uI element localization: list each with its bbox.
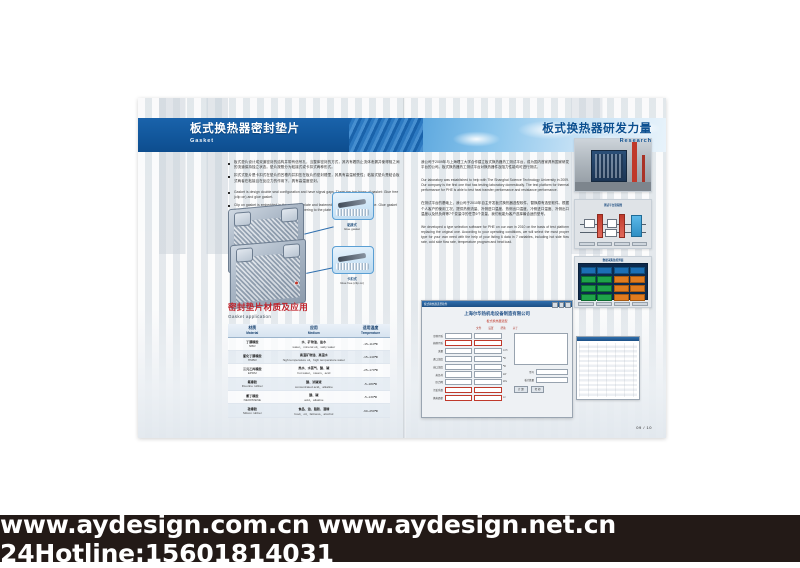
brochure-spread: 板式换热器密封垫片 Gasket 板式换热器研发力量 Research 板式垫片… bbox=[138, 98, 666, 438]
right-page-title: 板式换热器研发力量 Research bbox=[542, 122, 652, 144]
tank-icon bbox=[631, 215, 642, 237]
bullet-en-1: Gasket is design double seal configurati… bbox=[228, 190, 400, 200]
heater-icon bbox=[619, 214, 625, 238]
research-paragraph-cn-2: 在测试平台的基础上，我公司于2010年自主开发板式换热器选型软件，替换原有选型软… bbox=[421, 201, 569, 217]
table-row: 丁腈橡胶NBR水、矿物油、盐水water、mineral oil、salty w… bbox=[228, 337, 390, 350]
field-label: 冷侧介质 bbox=[426, 334, 443, 338]
contact-banner-text: www.aydesign.com.cn www.aydesign.net.cn … bbox=[0, 510, 800, 568]
software-field-row: 流量m³/h bbox=[426, 348, 510, 354]
field-input[interactable] bbox=[445, 387, 473, 393]
hmi-row bbox=[581, 285, 645, 292]
cell-temperature: -15~110℃ bbox=[351, 337, 390, 350]
software-action-buttons: 计 算打 印 bbox=[514, 386, 568, 394]
hmi-cell bbox=[581, 285, 596, 292]
plate-port-icon bbox=[236, 247, 253, 262]
software-field-row: 出口温度℃ bbox=[426, 364, 510, 370]
hmi-screen-photo: 数据采集监控界面 bbox=[574, 256, 652, 308]
bullet-en-1-text: Gasket is design double seal configurati… bbox=[234, 190, 400, 200]
hmi-button[interactable] bbox=[596, 302, 612, 306]
hmi-screen-image: 数据采集监控界面 bbox=[575, 257, 651, 307]
hmi-cell bbox=[614, 267, 629, 274]
software-title-bar: 板式换热器选型软件 bbox=[422, 301, 572, 307]
cell-medium: 酸、碱acid、alkaline bbox=[277, 391, 352, 404]
software-result-row: 板片数量 bbox=[514, 377, 568, 383]
flow-diagram-image: 测试平台流程图 bbox=[575, 200, 651, 248]
callout-leader-line bbox=[304, 226, 333, 234]
callout-glue-gasket: 粘接式 Glue gasket bbox=[332, 192, 372, 231]
field-unit: ℃ bbox=[503, 365, 510, 368]
field-label: 热负荷 bbox=[426, 373, 443, 377]
cell-medium: 水、矿物油、盐水water、mineral oil、salty water bbox=[277, 337, 352, 350]
hmi-cell bbox=[630, 267, 645, 274]
field-unit: ℃ bbox=[503, 357, 510, 360]
software-menu-item[interactable]: 关于 bbox=[513, 326, 518, 330]
cell-material: 氯丁橡胶NEOPRENE bbox=[228, 391, 277, 404]
table-row: 氟橡胶Fluorine rubber酸、浓碱液concentrated acid… bbox=[228, 377, 390, 390]
software-header: 上海尔华热机电设备制造有限公司 板式换热器选型 bbox=[422, 307, 572, 323]
cell-material: 三元乙丙橡胶EPDM bbox=[228, 364, 277, 377]
software-field-row: 热负荷kW bbox=[426, 371, 510, 377]
field-input[interactable] bbox=[445, 371, 473, 377]
hmi-caption: 数据采集监控界面 bbox=[603, 258, 624, 262]
field-unit: m² bbox=[503, 397, 510, 399]
software-result-row: 型号 bbox=[514, 369, 568, 375]
field-input[interactable] bbox=[474, 395, 502, 401]
result-label: 板片数量 bbox=[514, 378, 534, 382]
right-text-column: 我公司于2009年与上海理工大学合作建立板式换热器热工测试平台，成为国内首家具有… bbox=[421, 160, 569, 253]
field-input[interactable] bbox=[474, 387, 502, 393]
cell-temperature: -15~140℃ bbox=[351, 350, 390, 363]
bullet-cn-1: 板式垫片设计成双道密封的结构并带有信号孔，当整体密封的方式，其内有着防止流体泄漏… bbox=[228, 160, 400, 170]
field-input[interactable] bbox=[445, 333, 473, 339]
hmi-cell bbox=[614, 276, 629, 283]
diagram-button[interactable] bbox=[597, 242, 613, 246]
maximize-icon[interactable] bbox=[559, 302, 565, 308]
component-box bbox=[607, 219, 617, 228]
cell-medium: 热水、水蒸气、酸、碱hot water、steam、acid bbox=[277, 364, 352, 377]
result-value bbox=[536, 377, 569, 383]
field-input[interactable] bbox=[474, 333, 502, 339]
table-header: 材质 Material 应用 Medium 适用温度 Temperature bbox=[228, 324, 390, 337]
bullet-cn-2: 扣式式垫片是卡扣式在垫片的凹槽内并扣压在板片的密封槽里，其具有高温耐受性；粘接式… bbox=[228, 173, 400, 183]
flow-diagram-photo: 测试平台流程图 bbox=[574, 199, 652, 249]
hmi-button[interactable] bbox=[632, 302, 648, 306]
software-field-row: 热侧介质 bbox=[426, 340, 510, 346]
software-field-row: 污垢系数 bbox=[426, 387, 510, 393]
hmi-display bbox=[578, 263, 648, 300]
field-label: 换热面积 bbox=[426, 396, 443, 400]
hmi-cell bbox=[614, 294, 629, 301]
diagram-button[interactable] bbox=[632, 242, 648, 246]
cell-temperature: -25~170℃ bbox=[351, 364, 390, 377]
hmi-cell bbox=[630, 294, 645, 301]
plate-port-icon bbox=[281, 207, 298, 222]
field-input[interactable] bbox=[445, 356, 473, 362]
field-label: 出口温度 bbox=[426, 365, 443, 369]
field-label: 热侧介质 bbox=[426, 341, 443, 345]
heater-icon bbox=[597, 214, 603, 238]
callout-clip-on-gasket: 卡扣式 Glue free (clip on) bbox=[332, 246, 372, 285]
plate-port-icon bbox=[234, 211, 251, 226]
software-field-row: 进口温度℃ bbox=[426, 356, 510, 362]
cell-material: 氟橡胶Fluorine rubber bbox=[228, 377, 277, 390]
field-input[interactable] bbox=[445, 379, 473, 385]
right-title-en: Research bbox=[542, 138, 652, 144]
diagram-button[interactable] bbox=[579, 242, 595, 246]
left-page-title: 板式换热器密封垫片 Gasket bbox=[190, 122, 300, 144]
callout-marker-dot bbox=[295, 281, 298, 284]
hmi-button[interactable] bbox=[614, 302, 630, 306]
field-unit: m³/h bbox=[503, 350, 510, 352]
software-menu-item[interactable]: 帮助 bbox=[501, 326, 506, 330]
gasket-photo-thumb bbox=[332, 246, 374, 274]
software-menu-item[interactable]: 文件 bbox=[476, 326, 481, 330]
research-paragraph-en-2: We developed a type selection software f… bbox=[421, 225, 569, 246]
software-field-row: 换热面积m² bbox=[426, 395, 510, 401]
hmi-row bbox=[581, 267, 645, 274]
page-canvas: 板式换热器密封垫片 Gasket 板式换热器研发力量 Research 板式垫片… bbox=[0, 0, 800, 562]
result-fields: 型号板片数量 bbox=[514, 369, 568, 383]
research-paragraph-en-1: Our laboratory was established to help w… bbox=[421, 178, 569, 194]
lab-photo bbox=[574, 138, 652, 192]
field-label: 污垢系数 bbox=[426, 388, 443, 392]
cell-material: 氢化丁腈橡胶HNBR bbox=[228, 350, 277, 363]
result-display-box bbox=[514, 333, 568, 365]
field-label: 压力降 bbox=[426, 380, 443, 384]
minimize-icon[interactable] bbox=[552, 302, 558, 308]
hmi-cell bbox=[630, 276, 645, 283]
component-box bbox=[584, 219, 595, 228]
field-input[interactable] bbox=[474, 356, 502, 362]
selection-software-screenshot: 板式换热器选型软件 上海尔华热机电设备制造有限公司 板式换热器选型 文件设置帮助… bbox=[421, 300, 573, 418]
hmi-cell bbox=[581, 267, 596, 274]
close-icon[interactable] bbox=[565, 302, 571, 308]
hmi-cell bbox=[597, 276, 612, 283]
field-input[interactable] bbox=[474, 340, 502, 346]
section-title-cn: 密封垫片材质及应用 bbox=[228, 301, 408, 313]
cell-medium: 食品、油、脂肪、酒精food、oil、fattness、alcohol bbox=[277, 404, 352, 417]
cell-material: 丁腈橡胶NBR bbox=[228, 337, 277, 350]
hmi-row bbox=[581, 276, 645, 283]
hmi-button-row bbox=[578, 302, 648, 306]
component-box bbox=[605, 229, 617, 237]
gasket-application-heading: 密封垫片材质及应用 Gasket application bbox=[228, 301, 408, 319]
plate-port-icon bbox=[283, 243, 300, 258]
cell-medium: 酸、浓碱液concentrated acid、alkaline bbox=[277, 377, 352, 390]
plate-illustrations: 粘接式 Glue gasket 卡扣式 Glue free (clip on) bbox=[228, 206, 403, 298]
test-rig-icon bbox=[591, 150, 627, 182]
software-result-panel: 型号板片数量 计 算打 印 bbox=[514, 333, 568, 403]
software-action-button[interactable]: 打 印 bbox=[531, 386, 545, 394]
callout-label-en: Glue gasket bbox=[332, 227, 372, 231]
section-title-en: Gasket application bbox=[228, 314, 408, 319]
software-field-row: 冷侧介质 bbox=[426, 333, 510, 339]
field-unit: kW bbox=[503, 374, 510, 376]
bullet-cn-2-text: 扣式式垫片是卡扣式在垫片的凹槽内并扣压在板片的密封槽里，其具有高温耐受性；粘接式… bbox=[234, 173, 400, 183]
page-number: 09 / 10 bbox=[636, 425, 652, 430]
field-label: 流量 bbox=[426, 349, 443, 353]
software-window-title: 板式换热器选型软件 bbox=[424, 302, 447, 306]
diagram-caption: 测试平台流程图 bbox=[604, 203, 622, 207]
left-title-en: Gasket bbox=[190, 138, 300, 144]
table-row: 三元乙丙橡胶EPDM热水、水蒸气、酸、碱hot water、steam、acid… bbox=[228, 364, 390, 377]
lab-photo-image bbox=[575, 139, 651, 191]
hmi-cell bbox=[597, 267, 612, 274]
hmi-row bbox=[581, 294, 645, 301]
callout-leader-line bbox=[306, 267, 334, 274]
field-input[interactable] bbox=[445, 395, 473, 401]
hmi-cell bbox=[597, 285, 612, 292]
result-value bbox=[536, 369, 569, 375]
contact-banner: www.aydesign.com.cn www.aydesign.net.cn … bbox=[0, 515, 800, 562]
table-row: 硅橡胶Silicon rubber食品、油、脂肪、酒精food、oil、fatt… bbox=[228, 404, 390, 417]
field-input[interactable] bbox=[445, 340, 473, 346]
research-photo-rail: 测试平台流程图 bbox=[574, 138, 658, 438]
hmi-button[interactable] bbox=[578, 302, 594, 306]
field-input[interactable] bbox=[445, 348, 473, 354]
left-title-cn: 板式换热器密封垫片 bbox=[190, 122, 300, 136]
col-medium: 应用 Medium bbox=[277, 324, 352, 337]
software-input-form: 冷侧介质热侧介质流量m³/h进口温度℃出口温度℃热负荷kW压力降kPa污垢系数换… bbox=[426, 333, 510, 403]
hmi-cell bbox=[597, 294, 612, 301]
software-field-row: 压力降kPa bbox=[426, 379, 510, 385]
diagram-button-row bbox=[579, 242, 647, 246]
window-controls bbox=[552, 302, 571, 308]
hmi-cell bbox=[614, 285, 629, 292]
field-input[interactable] bbox=[474, 371, 502, 377]
left-bullets-cn: 板式垫片设计成双道密封的结构并带有信号孔，当整体密封的方式，其内有着防止流体泄漏… bbox=[228, 160, 400, 184]
gasket-photo-thumb bbox=[332, 192, 374, 220]
field-input[interactable] bbox=[474, 379, 502, 385]
cell-temperature: -5~130℃ bbox=[351, 391, 390, 404]
software-company-name: 上海尔华热机电设备制造有限公司 bbox=[422, 311, 572, 317]
table-body: 丁腈橡胶NBR水、矿物油、盐水water、mineral oil、salty w… bbox=[228, 337, 390, 417]
right-title-cn: 板式换热器研发力量 bbox=[542, 122, 652, 136]
floor-band bbox=[575, 182, 651, 191]
field-unit: kPa bbox=[503, 381, 510, 383]
field-label: 进口温度 bbox=[426, 357, 443, 361]
cell-material: 硅橡胶Silicon rubber bbox=[228, 404, 277, 417]
software-action-button[interactable]: 计 算 bbox=[514, 386, 528, 394]
gasket-application-table: 材质 Material 应用 Medium 适用温度 Temperature 丁… bbox=[228, 324, 390, 418]
hmi-cell bbox=[581, 294, 596, 301]
software-body: 冷侧介质热侧介质流量m³/h进口温度℃出口温度℃热负荷kW压力降kPa污垢系数换… bbox=[422, 330, 572, 403]
software-subtitle: 板式换热器选型 bbox=[422, 319, 572, 323]
bullet-cn-1-text: 板式垫片设计成双道密封的结构并带有信号孔，当整体密封的方式，其内有着防止流体泄漏… bbox=[234, 160, 400, 170]
cell-medium: 高温矿物油、高温水high temperature oil、high tempe… bbox=[277, 350, 352, 363]
table-header-row: 材质 Material 应用 Medium 适用温度 Temperature bbox=[228, 324, 390, 337]
field-input[interactable] bbox=[445, 364, 473, 370]
cell-temperature: -60~250℃ bbox=[351, 404, 390, 417]
diagram-button[interactable] bbox=[614, 242, 630, 246]
col-temperature: 适用温度 Temperature bbox=[351, 324, 390, 337]
heat-exchanger-plate-clip bbox=[230, 239, 306, 310]
col-material: 材质 Material bbox=[228, 324, 277, 337]
hmi-cell bbox=[630, 285, 645, 292]
field-input[interactable] bbox=[474, 364, 502, 370]
table-row: 氯丁橡胶NEOPRENE酸、碱acid、alkaline-5~130℃ bbox=[228, 391, 390, 404]
cell-temperature: -5~180℃ bbox=[351, 377, 390, 390]
research-paragraph-cn-1: 我公司于2009年与上海理工大学合作建立板式换热器热工测试平台，成为国内首家具有… bbox=[421, 160, 569, 171]
table-row: 氢化丁腈橡胶HNBR高温矿物油、高温水high temperature oil、… bbox=[228, 350, 390, 363]
result-label: 型号 bbox=[514, 370, 534, 374]
software-menu-item[interactable]: 设置 bbox=[488, 326, 493, 330]
field-input[interactable] bbox=[474, 348, 502, 354]
callout-label-en: Glue free (clip on) bbox=[332, 281, 372, 285]
hmi-cell bbox=[581, 276, 596, 283]
